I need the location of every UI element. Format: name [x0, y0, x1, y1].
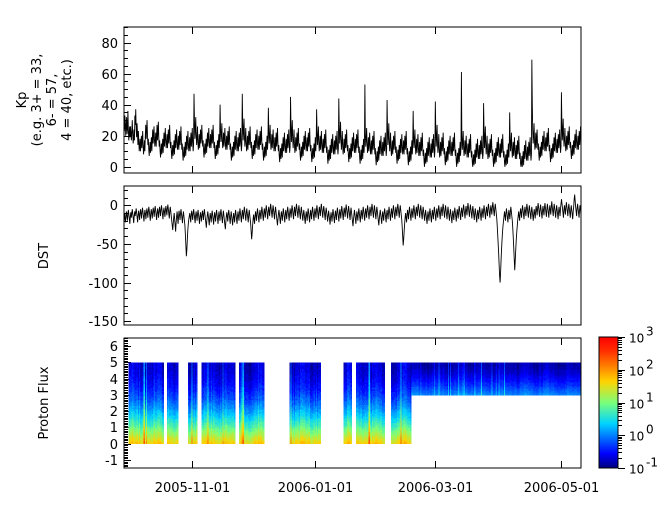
- y-tick-label: 20: [101, 130, 118, 145]
- y-tick-label: 60: [101, 68, 118, 83]
- y-tick-label: 6: [110, 340, 118, 355]
- kp-ylabel-line-3: 4 = 40, etc.): [60, 59, 75, 141]
- y-tick-label: 0: [110, 199, 118, 214]
- flux-block: [202, 362, 236, 444]
- figure-background: [0, 0, 665, 523]
- kp-ylabel-line-0: Kp: [15, 92, 30, 109]
- flux-block: [188, 362, 198, 444]
- plot-canvas: Kp (e.g. 3+ = 33, 6- = 57, 4 = 40, etc.)…: [0, 0, 665, 523]
- y-tick-label: 2: [110, 405, 118, 420]
- y-tick-label: -50: [97, 238, 118, 253]
- flux-block: [129, 362, 164, 444]
- y-tick-label: 80: [101, 37, 118, 52]
- y-tick-label: -100: [88, 277, 118, 292]
- flux-cell: [162, 442, 164, 444]
- y-tick-label: 1: [110, 421, 118, 436]
- flux-cell: [196, 442, 198, 444]
- y-tick-label: -1: [105, 454, 118, 469]
- dst-ylabel: DST: [37, 243, 52, 269]
- kp-ylabel-line-1: (e.g. 3+ = 33,: [30, 54, 45, 147]
- y-tick-label: 3: [110, 389, 118, 404]
- flux-block: [167, 362, 178, 444]
- y-tick-label: 5: [110, 356, 118, 371]
- flux-cell: [177, 442, 179, 444]
- flux-ylabel: Proton Flux: [37, 366, 52, 439]
- y-tick-label: 0: [110, 438, 118, 453]
- figure-root: Kp (e.g. 3+ = 33, 6- = 57, 4 = 40, etc.)…: [0, 0, 665, 523]
- y-tick-label: 0: [110, 161, 118, 176]
- kp-ylabel-line-2: 6- = 57,: [45, 74, 60, 127]
- y-tick-label: 40: [101, 99, 118, 114]
- y-tick-label: 4: [110, 373, 118, 388]
- y-tick-label: -150: [88, 315, 118, 330]
